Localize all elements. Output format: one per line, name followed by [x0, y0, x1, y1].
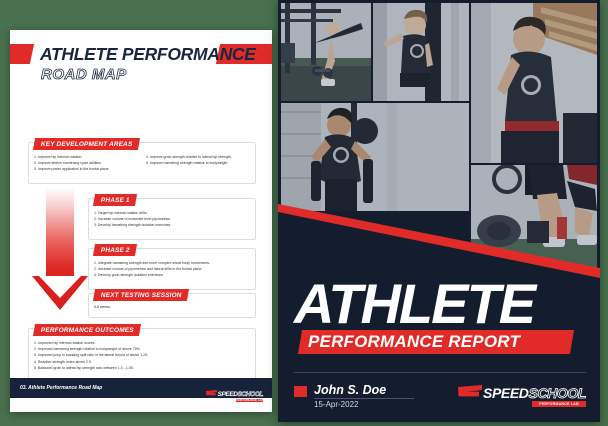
phase-1-list: 1. Target hip internal rotation drills. … [94, 210, 250, 229]
report-date: 15-Apr-2022 [314, 400, 358, 409]
list-item: 5. Improve hamstring strength relative t… [146, 160, 250, 166]
photo-athlete-single-leg-deadlift [281, 3, 371, 101]
page-subtitle: ROAD MAP [41, 66, 127, 84]
logo-school-text: SCHOOL [238, 391, 263, 398]
report-title: ATHLETE [294, 276, 586, 332]
key-development-badge: KEY DEVELOPMENT AREAS [33, 138, 140, 150]
report-cover-page: ATHLETE PERFORMANCE REPORT John S. Doe 1… [278, 0, 600, 422]
logo-tagline: PERFORMANCE LAB [236, 399, 263, 402]
swoosh-icon [458, 385, 482, 401]
list-item: 6-8 weeks. [94, 304, 250, 310]
footer-page-label: 03. Athlete Performance Road Map [20, 378, 102, 398]
logo-tagline: PERFORMANCE LAB [532, 401, 586, 407]
roadmap-page: ATHLETE PERFORMANCE ROAD MAP KEY DEVELOP… [10, 30, 272, 412]
performance-outcomes-badge-label: PERFORMANCE OUTCOMES [41, 327, 134, 334]
photo-athlete-sprint-drive [471, 3, 597, 163]
performance-outcomes-list: 1. Improved hip internal rotation scores… [34, 340, 250, 371]
page-title: ATHLETE PERFORMANCE [40, 43, 240, 65]
next-testing-badge-label: NEXT TESTING SESSION [101, 292, 182, 299]
photo-athlete-landmine-carry [281, 103, 469, 211]
list-item: 3. Develop hamstring strength isolation … [94, 222, 250, 228]
logo-speed-text: SPEED [483, 385, 528, 401]
progression-arrow-icon [32, 188, 88, 318]
logo-school-text: SCHOOL [529, 385, 587, 401]
phase-2-badge: PHASE 2 [93, 244, 137, 256]
athlete-name-underline [314, 398, 414, 399]
phase-1-badge: PHASE 1 [93, 194, 137, 206]
performance-outcomes-badge: PERFORMANCE OUTCOMES [33, 324, 141, 336]
phase-2-list: 1. Integrate hamstring strength into mor… [94, 260, 250, 279]
report-subtitle: PERFORMANCE REPORT [308, 330, 580, 354]
page-footer: 03. Athlete Performance Road Map SPEEDSC… [10, 378, 272, 398]
key-development-column-1: 1. Improve hip internal rotation. 2. Imp… [34, 154, 138, 173]
key-development-columns: 1. Improve hip internal rotation. 2. Imp… [34, 154, 250, 173]
key-development-column-2: 4. Improve groin strength relative to la… [146, 154, 250, 173]
phase-1-badge-label: PHASE 1 [101, 197, 130, 204]
poster-scene: ATHLETE PERFORMANCE ROAD MAP KEY DEVELOP… [0, 0, 608, 426]
list-item: 5. Balanced groin to lateral hip strengt… [34, 365, 250, 371]
list-item: 3. Improve power application in the fron… [34, 166, 138, 172]
speed-school-logo: SPEEDSCHOOL PERFORMANCE LAB [458, 384, 586, 402]
swoosh-icon [206, 390, 217, 398]
logo-speed-text: SPEED [218, 391, 238, 398]
list-item: 3. Develop groin strength isolation exer… [94, 272, 250, 278]
divider [294, 372, 586, 373]
key-development-badge-label: KEY DEVELOPMENT AREAS [41, 141, 133, 148]
red-marker [294, 386, 307, 397]
next-testing-list: 6-8 weeks. [94, 304, 250, 310]
photo-athlete-medicine-ball-throw [373, 3, 469, 101]
phase-2-badge-label: PHASE 2 [101, 247, 130, 254]
speed-school-logo-footer: SPEEDSCHOOL PERFORMANCE LAB [206, 383, 263, 401]
next-testing-badge: NEXT TESTING SESSION [93, 289, 189, 301]
athlete-name: John S. Doe [314, 383, 386, 397]
